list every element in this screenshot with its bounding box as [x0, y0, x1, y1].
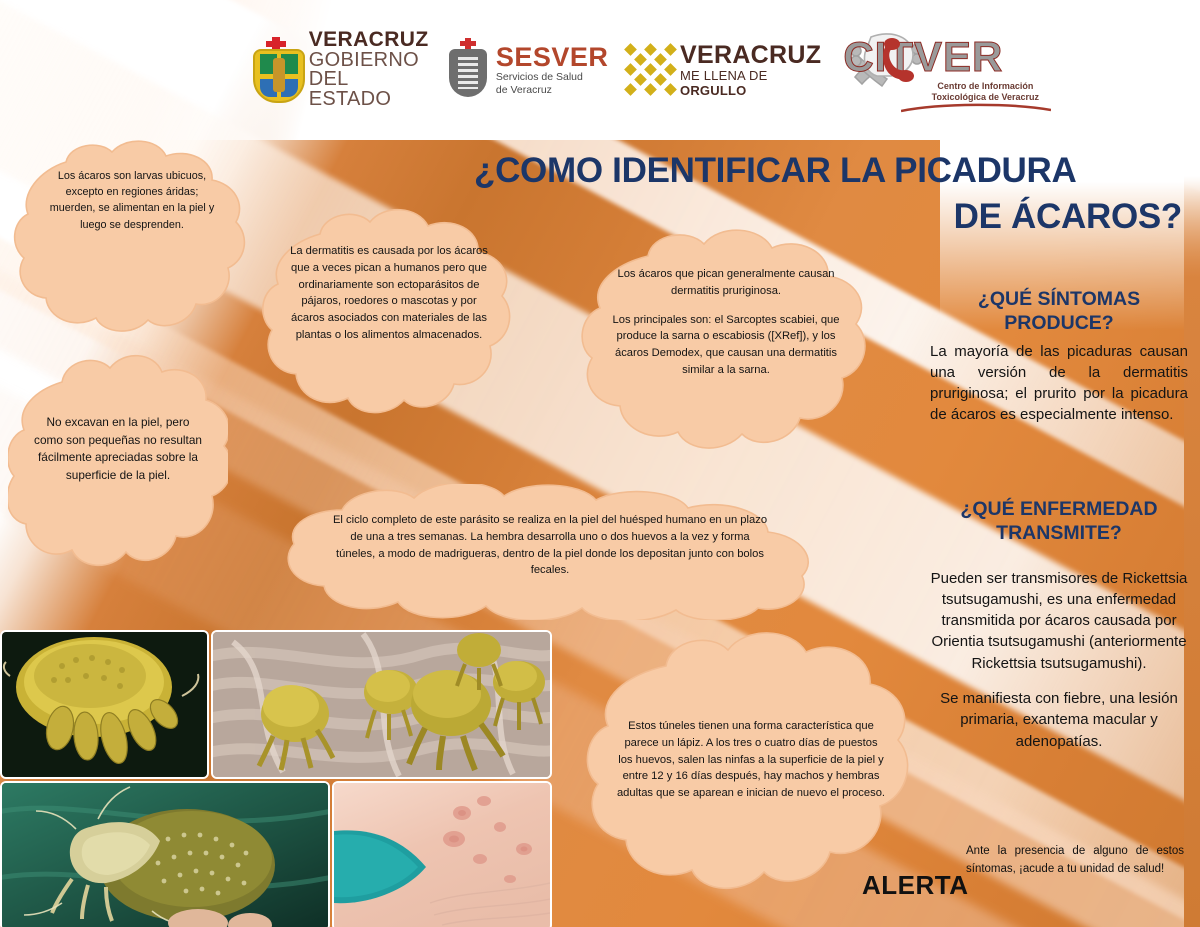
info-cloud-6-paragraph-1: Estos túneles tienen una forma caracterí… — [616, 718, 886, 802]
info-cloud-3: Los ácaros que pican generalmente causan… — [576, 228, 876, 458]
section-sintomas-body: La mayoría de las picaduras causan una v… — [930, 341, 1188, 426]
page-title: ¿COMO IDENTIFICAR LA PICADURA DE ÁCAROS? — [470, 148, 1182, 240]
logo-veracruz-orgullo: VERACRUZ ME LLENA DE ORGULLO — [624, 43, 827, 98]
info-cloud-6: Estos túneles tienen una forma caracterí… — [582, 632, 916, 908]
infographic-poster: VERACRUZ GOBIERNO DEL ESTADO SESVER Serv… — [0, 0, 1200, 927]
photo-dust-mites-on-fibers — [211, 630, 552, 779]
section-sintomas-heading: ¿QUÉ SÍNTOMAS PRODUCE? — [930, 288, 1188, 336]
section-enfermedad-paragraph-2: Se manifiesta con fiebre, una lesión pri… — [930, 688, 1188, 752]
logo-sesver-line2: Servicios de Salud — [496, 71, 609, 83]
info-cloud-3-paragraph-2: Los principales son: el Sarcoptes scabie… — [606, 312, 846, 379]
section-enfermedad-body: Pueden ser transmisores de Rickettsia ts… — [930, 568, 1188, 752]
right-edge-strip — [1184, 0, 1200, 927]
section-sintomas: ¿QUÉ SÍNTOMAS PRODUCE? La mayoría de las… — [930, 288, 1188, 440]
info-cloud-3-paragraph-1: Los ácaros que pican generalmente causan… — [606, 266, 846, 300]
info-cloud-3-text: Los ácaros que pican generalmente causan… — [606, 266, 846, 379]
info-cloud-5-paragraph-1: El ciclo completo de este parásito se re… — [330, 512, 770, 579]
page-title-line1: ¿COMO IDENTIFICAR LA PICADURA — [470, 148, 1182, 194]
diamond-pattern-icon — [624, 45, 673, 95]
logo-bar: VERACRUZ GOBIERNO DEL ESTADO SESVER Serv… — [250, 22, 1040, 118]
info-cloud-1-paragraph-1: Los ácaros son larvas ubicuos, excepto e… — [46, 168, 218, 233]
alert-text: Ante la presencia de alguno de estos sín… — [966, 843, 1184, 879]
section-sintomas-paragraph: La mayoría de las picaduras causan una v… — [930, 341, 1188, 426]
logo-citver: CITVER Centro de Información Toxicológic… — [843, 27, 1040, 113]
alert-word: ALERTA — [862, 870, 969, 901]
info-cloud-1-text: Los ácaros son larvas ubicuos, excepto e… — [46, 168, 218, 233]
logo-veracruz-gobierno: VERACRUZ GOBIERNO DEL ESTADO — [250, 30, 431, 109]
info-cloud-6-text: Estos túneles tienen una forma caracterí… — [616, 718, 886, 802]
photo-skin-bite-rash — [332, 781, 552, 927]
logo-veracruz-line1: VERACRUZ — [309, 30, 431, 51]
info-cloud-1: Los ácaros son larvas ubicuos, excepto e… — [8, 138, 254, 338]
photo-mite-on-green-leaf — [0, 781, 330, 927]
veracruz-coat-of-arms-icon — [250, 39, 302, 101]
info-cloud-4: No excavan en la piel, pero como son peq… — [8, 352, 228, 580]
section-enfermedad-heading-line2: TRANSMITE? — [930, 522, 1188, 546]
citver-subtitle-line2: Toxicológica de Veracruz — [917, 92, 1053, 103]
info-cloud-4-paragraph-1: No excavan en la piel, pero como son peq… — [32, 414, 204, 485]
photo-mite-closeup-dark — [0, 630, 209, 779]
phone-handset-icon — [877, 37, 921, 83]
section-enfermedad: ¿QUÉ ENFERMEDAD TRANSMITE? Pueden ser tr… — [930, 498, 1188, 766]
info-cloud-4-text: No excavan en la piel, pero como son peq… — [32, 414, 204, 485]
photo-collage — [0, 630, 548, 927]
section-sintomas-heading-line1: ¿QUÉ SÍNTOMAS — [930, 288, 1188, 312]
citver-subtitle-line1: Centro de Información — [917, 81, 1053, 92]
section-enfermedad-heading-line1: ¿QUÉ ENFERMEDAD — [930, 498, 1188, 522]
logo-sesver-line3: de Veracruz — [496, 84, 609, 96]
citver-subtitle: Centro de Información Toxicológica de Ve… — [917, 81, 1053, 102]
logo-sesver-wordmark: SESVER — [496, 44, 609, 71]
section-enfermedad-heading: ¿QUÉ ENFERMEDAD TRANSMITE? — [930, 498, 1188, 546]
citver-wordmark: CITVER — [843, 33, 1053, 81]
logo-orgullo-wordmark: VERACRUZ — [680, 43, 827, 68]
logo-veracruz-line3: DEL ESTADO — [309, 70, 431, 109]
info-cloud-5-text: El ciclo completo de este parásito se re… — [330, 512, 770, 579]
sesver-shield-icon — [447, 41, 489, 99]
info-cloud-5: El ciclo completo de este parásito se re… — [272, 484, 824, 620]
logo-sesver: SESVER Servicios de Salud de Veracruz — [447, 41, 609, 99]
info-cloud-2-text: La dermatitis es causada por los ácaros … — [284, 243, 494, 344]
section-enfermedad-paragraph-1: Pueden ser transmisores de Rickettsia ts… — [930, 568, 1188, 674]
section-sintomas-heading-line2: PRODUCE? — [930, 312, 1188, 336]
citver-swoosh-icon — [901, 103, 1051, 113]
logo-orgullo-tagline: ME LLENA DE ORGULLO — [680, 68, 827, 98]
page-title-line2: DE ÁCAROS? — [470, 194, 1182, 240]
info-cloud-2-paragraph-1: La dermatitis es causada por los ácaros … — [284, 243, 494, 344]
